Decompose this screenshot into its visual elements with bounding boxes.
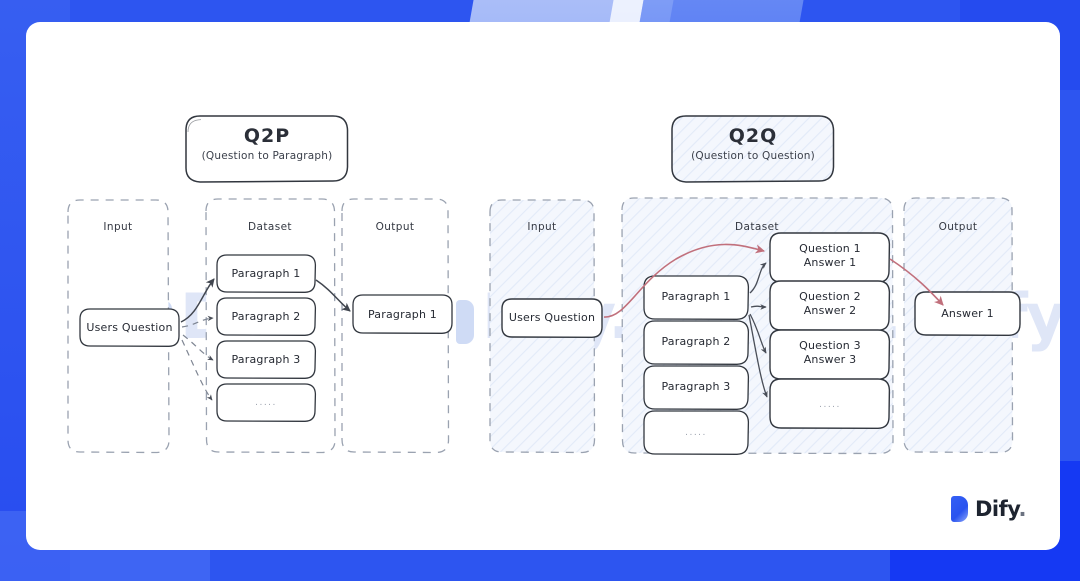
q2p-title-box [186, 116, 348, 182]
diagram-vectors [26, 22, 1060, 550]
q2p-node-paragraph-3 [217, 341, 315, 378]
q2q-node-paragraph-1 [644, 276, 748, 319]
q2q-node-question-1 [770, 233, 889, 282]
q2p-node-users-question [80, 309, 179, 346]
q2p-node-dots [217, 384, 315, 421]
screenshot-canvas: Dify. Dify. Dify. Dify. [0, 0, 1080, 581]
q2q-node-output-answer-1 [915, 292, 1020, 335]
q2q-node-question-2 [770, 281, 889, 330]
dify-logo-icon [951, 496, 968, 522]
q2q-node-dots-paragraph [644, 411, 748, 454]
diagram-card: Dify. Dify. Dify. Dify. [26, 22, 1060, 550]
dify-brand-logo: Dify. [951, 496, 1026, 522]
q2q-node-users-question [502, 299, 602, 337]
q2q-node-paragraph-3 [644, 366, 748, 409]
q2p-node-output-paragraph-1 [353, 295, 452, 333]
q2q-node-question-3 [770, 330, 889, 379]
dify-wordmark: Dify. [975, 497, 1026, 521]
q2p-node-paragraph-1 [217, 255, 315, 292]
q2q-title-box [672, 116, 834, 182]
q2p-node-paragraph-2 [217, 298, 315, 335]
q2q-node-dots-question [770, 379, 889, 428]
q2q-node-paragraph-2 [644, 321, 748, 364]
